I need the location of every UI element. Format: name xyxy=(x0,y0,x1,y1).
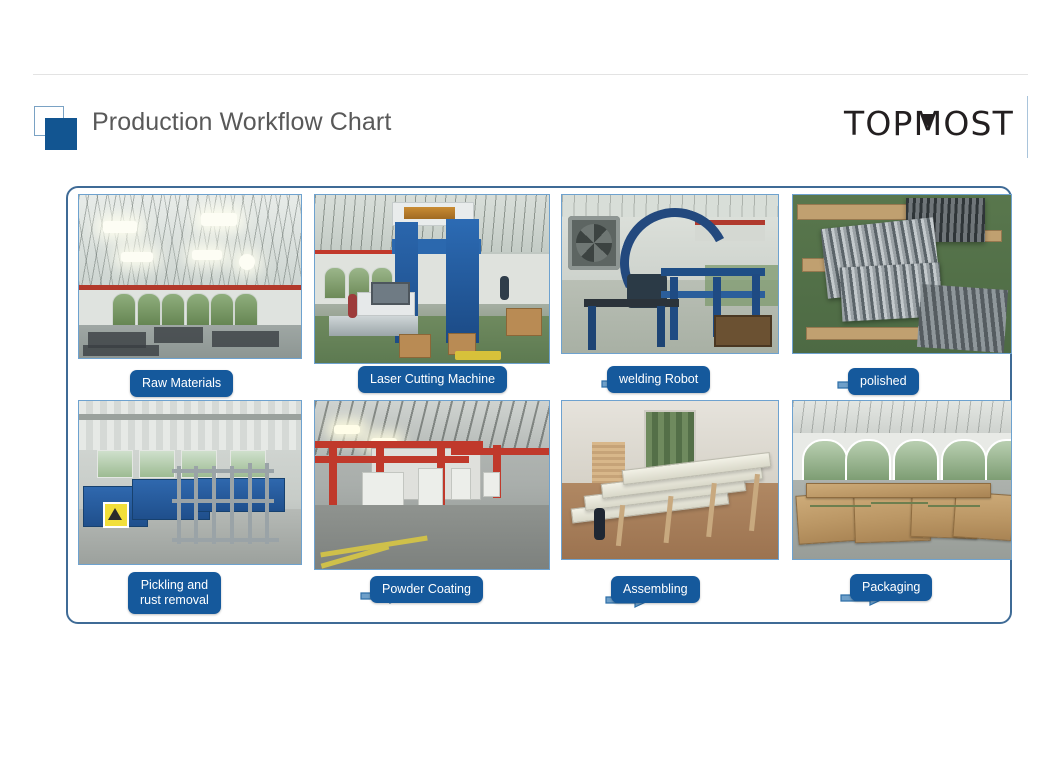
step-label-pickling-and-rust-removal: Pickling and rust removal xyxy=(128,572,221,614)
workflow-step-polished[interactable]: polished xyxy=(792,194,1016,399)
workflow-step-welding-robot[interactable]: welding Robot xyxy=(561,194,785,399)
brand-text-part-1: TOP xyxy=(844,104,914,143)
brand-divider xyxy=(1027,96,1029,158)
workflow-step-packaging[interactable]: Packaging xyxy=(792,400,1016,605)
brand-logo: TOPMOST xyxy=(844,104,1014,143)
workflow-step-powder-coating[interactable]: Powder Coating xyxy=(314,400,538,605)
brand-m-glyph-icon: M xyxy=(914,104,944,143)
workflow-row-1: Raw Materials xyxy=(68,194,1014,399)
header-divider-line xyxy=(33,74,1028,75)
packaging-warehouse-photo xyxy=(792,400,1012,560)
step-label-packaging: Packaging xyxy=(850,574,932,601)
brand-text-part-2: OST xyxy=(943,104,1014,143)
laser-cutting-machine-photo xyxy=(314,194,550,364)
logo-square-solid xyxy=(45,118,77,150)
step-label-laser-cutting-machine: Laser Cutting Machine xyxy=(358,366,507,393)
step-label-assembling: Assembling xyxy=(611,576,700,603)
welding-robot-photo xyxy=(561,194,779,354)
assembling-area-photo xyxy=(561,400,779,560)
step-label-polished: polished xyxy=(848,368,919,395)
workflow-step-laser-cutting-machine[interactable]: Laser Cutting Machine xyxy=(314,194,538,399)
powder-coating-line-photo xyxy=(314,400,550,570)
page-title: Production Workflow Chart xyxy=(92,108,391,137)
workflow-step-assembling[interactable]: Assembling xyxy=(561,400,785,605)
brand-wordmark: TOPMOST xyxy=(844,104,1014,143)
workflow-step-raw-materials[interactable]: Raw Materials xyxy=(78,194,302,399)
two-squares-logo-icon xyxy=(34,106,86,158)
step-label-raw-materials: Raw Materials xyxy=(130,370,233,397)
workflow-frame: Raw Materials xyxy=(66,186,1012,624)
step-label-welding-robot: welding Robot xyxy=(607,366,710,393)
factory-warehouse-photo xyxy=(78,194,302,359)
workflow-step-pickling-and-rust-removal[interactable]: Pickling and rust removal xyxy=(78,400,302,605)
step-label-powder-coating: Powder Coating xyxy=(370,576,483,603)
workflow-row-2: Pickling and rust removal xyxy=(68,400,1014,605)
page-header: Production Workflow Chart TOPMOST xyxy=(0,92,1060,170)
polished-parts-photo xyxy=(792,194,1012,354)
pickling-tanks-photo xyxy=(78,400,302,565)
